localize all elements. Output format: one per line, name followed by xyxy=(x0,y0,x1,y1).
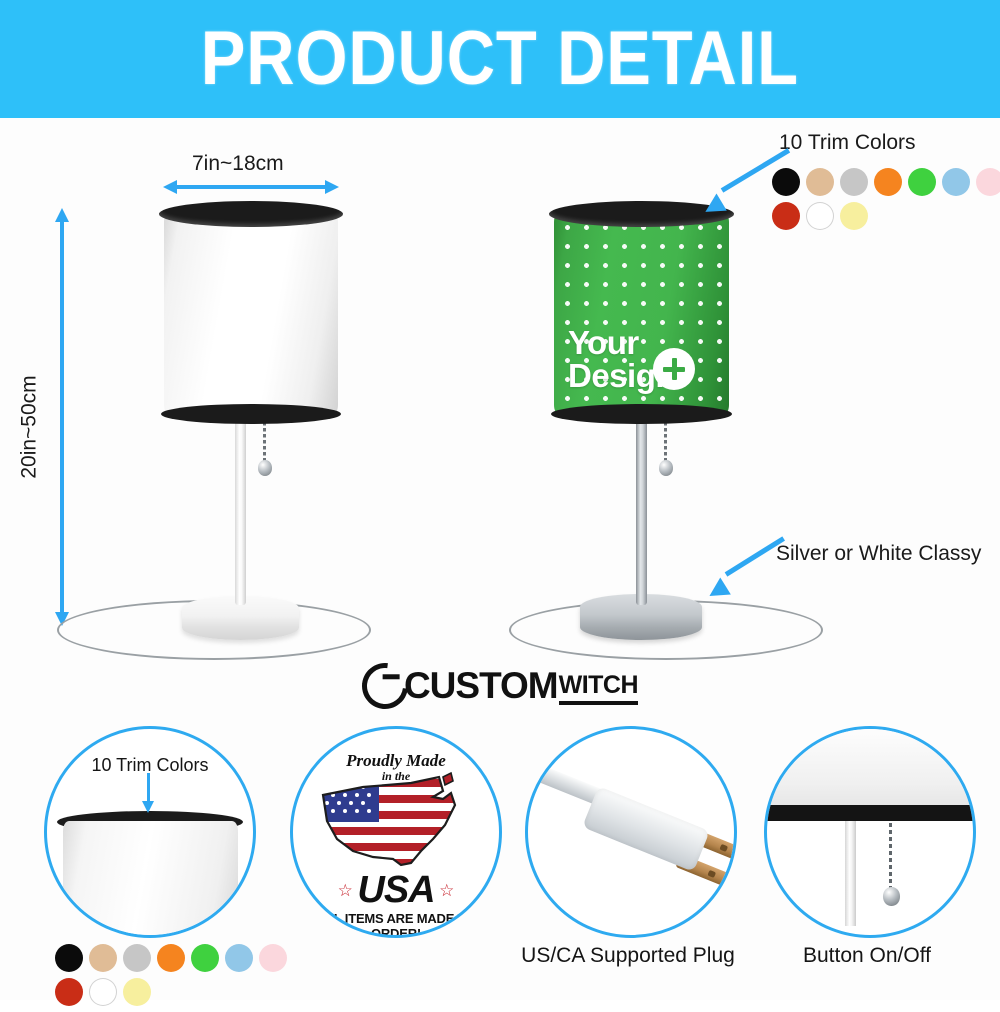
trim-arrow-icon xyxy=(147,773,150,803)
logo-main-text: CUSTOM xyxy=(404,665,558,707)
trim-swatch-orange[interactable] xyxy=(157,944,185,972)
detail-circle-trim: 10 Trim Colors xyxy=(44,726,256,938)
trim-swatch-black[interactable] xyxy=(772,168,800,196)
height-dimension-arrow xyxy=(55,208,69,626)
trim-colors-top-label: 10 Trim Colors xyxy=(779,131,916,155)
trim-swatch-yellow[interactable] xyxy=(123,978,151,1006)
trim-swatch-yellow[interactable] xyxy=(840,202,868,230)
trim-color-swatches-top[interactable] xyxy=(772,168,1000,236)
pull-chain-ball[interactable] xyxy=(258,460,272,476)
shade-surface: Your Design xyxy=(554,212,729,415)
trim-swatch-red[interactable] xyxy=(55,978,83,1006)
trim-swatch-white[interactable] xyxy=(806,202,834,230)
lamp-pole xyxy=(636,420,647,605)
usa-country-row: ☆ USA ☆ xyxy=(293,869,499,912)
trim-swatch-white[interactable] xyxy=(89,978,117,1006)
trim-swatch-green[interactable] xyxy=(191,944,219,972)
arrow-head-right xyxy=(325,180,339,194)
arrow-shaft xyxy=(60,218,64,616)
trim-swatch-red[interactable] xyxy=(772,202,800,230)
pull-chain-ball[interactable] xyxy=(883,887,900,906)
shade-trim-bottom xyxy=(551,404,732,424)
usa-country-text: USA xyxy=(357,869,434,911)
lamp-pole xyxy=(235,420,246,605)
shade-preview xyxy=(63,821,238,938)
trim-swatch-green[interactable] xyxy=(908,168,936,196)
plus-icon xyxy=(653,348,695,390)
pull-chain[interactable] xyxy=(889,823,892,889)
shade-edge xyxy=(764,729,976,807)
logo-sub-text: WITCH xyxy=(559,671,638,705)
detail-circle-button xyxy=(764,726,976,938)
trim-swatch-pink[interactable] xyxy=(976,168,1000,196)
trim-swatch-pink[interactable] xyxy=(259,944,287,972)
width-dimension-label: 7in~18cm xyxy=(192,152,284,176)
star-icon-right: ☆ xyxy=(439,881,454,900)
plug-caption: US/CA Supported Plug xyxy=(505,944,751,968)
shade-surface xyxy=(164,212,338,415)
header-banner: PRODUCT DETAIL xyxy=(0,0,1000,118)
detail-circle-plug xyxy=(525,726,737,938)
trim-swatch-light-blue[interactable] xyxy=(225,944,253,972)
pull-chain[interactable] xyxy=(263,422,266,464)
pull-chain-ball[interactable] xyxy=(659,460,673,476)
trim-swatch-tan[interactable] xyxy=(89,944,117,972)
c-circle-icon xyxy=(353,654,418,719)
width-dimension-arrow xyxy=(163,180,339,194)
arrow-shaft xyxy=(173,185,329,189)
page-title: PRODUCT DETAIL xyxy=(201,21,799,97)
lamp-shade-custom: Your Design xyxy=(554,212,729,415)
star-icon-left: ☆ xyxy=(338,881,353,900)
trim-swatch-tan[interactable] xyxy=(806,168,834,196)
shade-trim-bottom xyxy=(161,404,341,424)
trim-swatch-gray[interactable] xyxy=(123,944,151,972)
height-dimension-label: 20in~50cm xyxy=(18,375,42,478)
usa-footer-text: ALL ITEMS ARE MADE TO ORDER! xyxy=(293,911,499,938)
pull-chain[interactable] xyxy=(664,422,667,464)
lamp-shade xyxy=(164,212,338,415)
brand-logo: CUSTOM WITCH xyxy=(0,663,1000,709)
plug-body xyxy=(582,786,710,872)
trim-swatch-black[interactable] xyxy=(55,944,83,972)
button-caption: Button On/Off xyxy=(764,944,970,968)
base-finish-label: Silver or White Classy xyxy=(776,542,981,566)
trim-swatch-gray[interactable] xyxy=(840,168,868,196)
detail-circle-usa: Proudly Made in the xyxy=(290,726,502,938)
shade-trim-top xyxy=(159,201,343,227)
trim-swatch-light-blue[interactable] xyxy=(942,168,970,196)
trim-circle-caption: 10 Trim Colors xyxy=(47,755,253,776)
trim-color-swatches-bottom[interactable] xyxy=(55,944,325,1012)
trim-band xyxy=(764,805,976,821)
trim-swatch-orange[interactable] xyxy=(874,168,902,196)
infographic-canvas: PRODUCT DETAIL 7in~18cm 20in~50cm xyxy=(0,0,1000,1000)
lamp-pole xyxy=(845,821,856,926)
